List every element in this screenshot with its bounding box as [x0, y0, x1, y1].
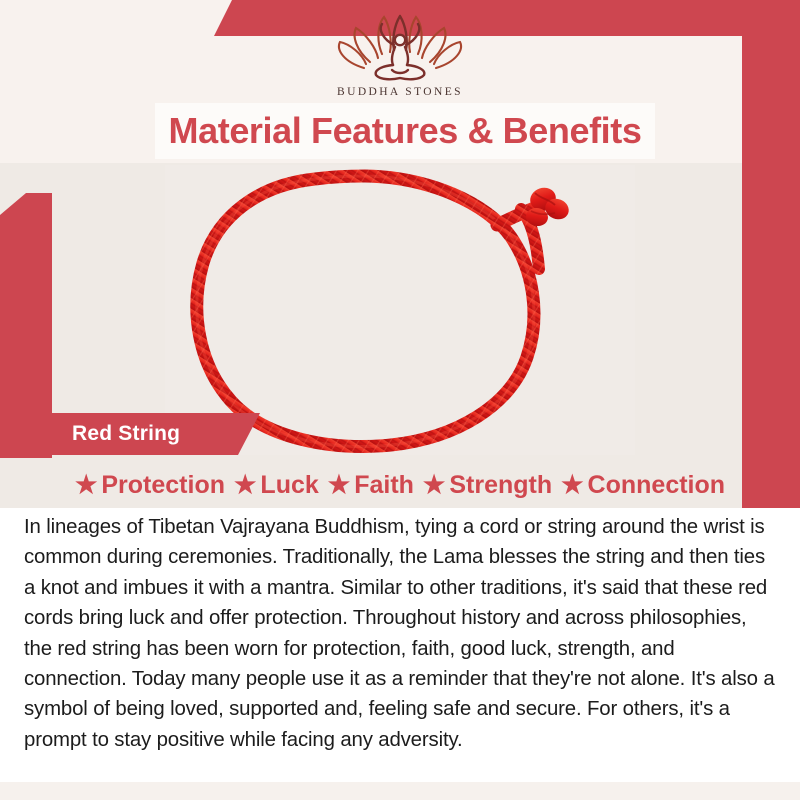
bracelet-illustration [165, 165, 635, 455]
benefit-item-faith: ★ Faith [328, 471, 414, 500]
star-icon: ★ [561, 473, 583, 498]
benefit-label: Connection [588, 471, 726, 500]
benefit-label: Protection [101, 471, 225, 500]
benefit-item-luck: ★ Luck [234, 471, 319, 500]
brand-logo: BUDDHA STONES [0, 10, 800, 102]
benefit-label: Strength [449, 471, 552, 500]
benefit-item-strength: ★ Strength [423, 471, 552, 500]
page-title: Material Features & Benefits [169, 110, 642, 152]
benefit-label: Luck [260, 471, 318, 500]
star-icon: ★ [328, 473, 350, 498]
lotus-meditation-figure-icon [334, 10, 466, 84]
description-paragraph: In lineages of Tibetan Vajrayana Buddhis… [24, 512, 776, 755]
star-icon: ★ [423, 473, 445, 498]
section-ribbon-red-string: Red String [0, 413, 260, 455]
benefit-item-connection: ★ Connection [561, 471, 725, 500]
title-band: Material Features & Benefits [155, 103, 655, 159]
star-icon: ★ [75, 473, 97, 498]
ribbon-label: Red String [72, 422, 180, 446]
benefits-row: ★ Protection ★ Luck ★ Faith ★ Strength ★… [0, 464, 800, 506]
brand-name: BUDDHA STONES [337, 86, 463, 98]
benefit-label: Faith [354, 471, 414, 500]
benefit-item-protection: ★ Protection [75, 471, 225, 500]
star-icon: ★ [234, 473, 256, 498]
product-image-red-string-bracelet [165, 165, 635, 455]
product-feature-poster: BUDDHA STONES Material Features & Benefi… [0, 0, 800, 800]
